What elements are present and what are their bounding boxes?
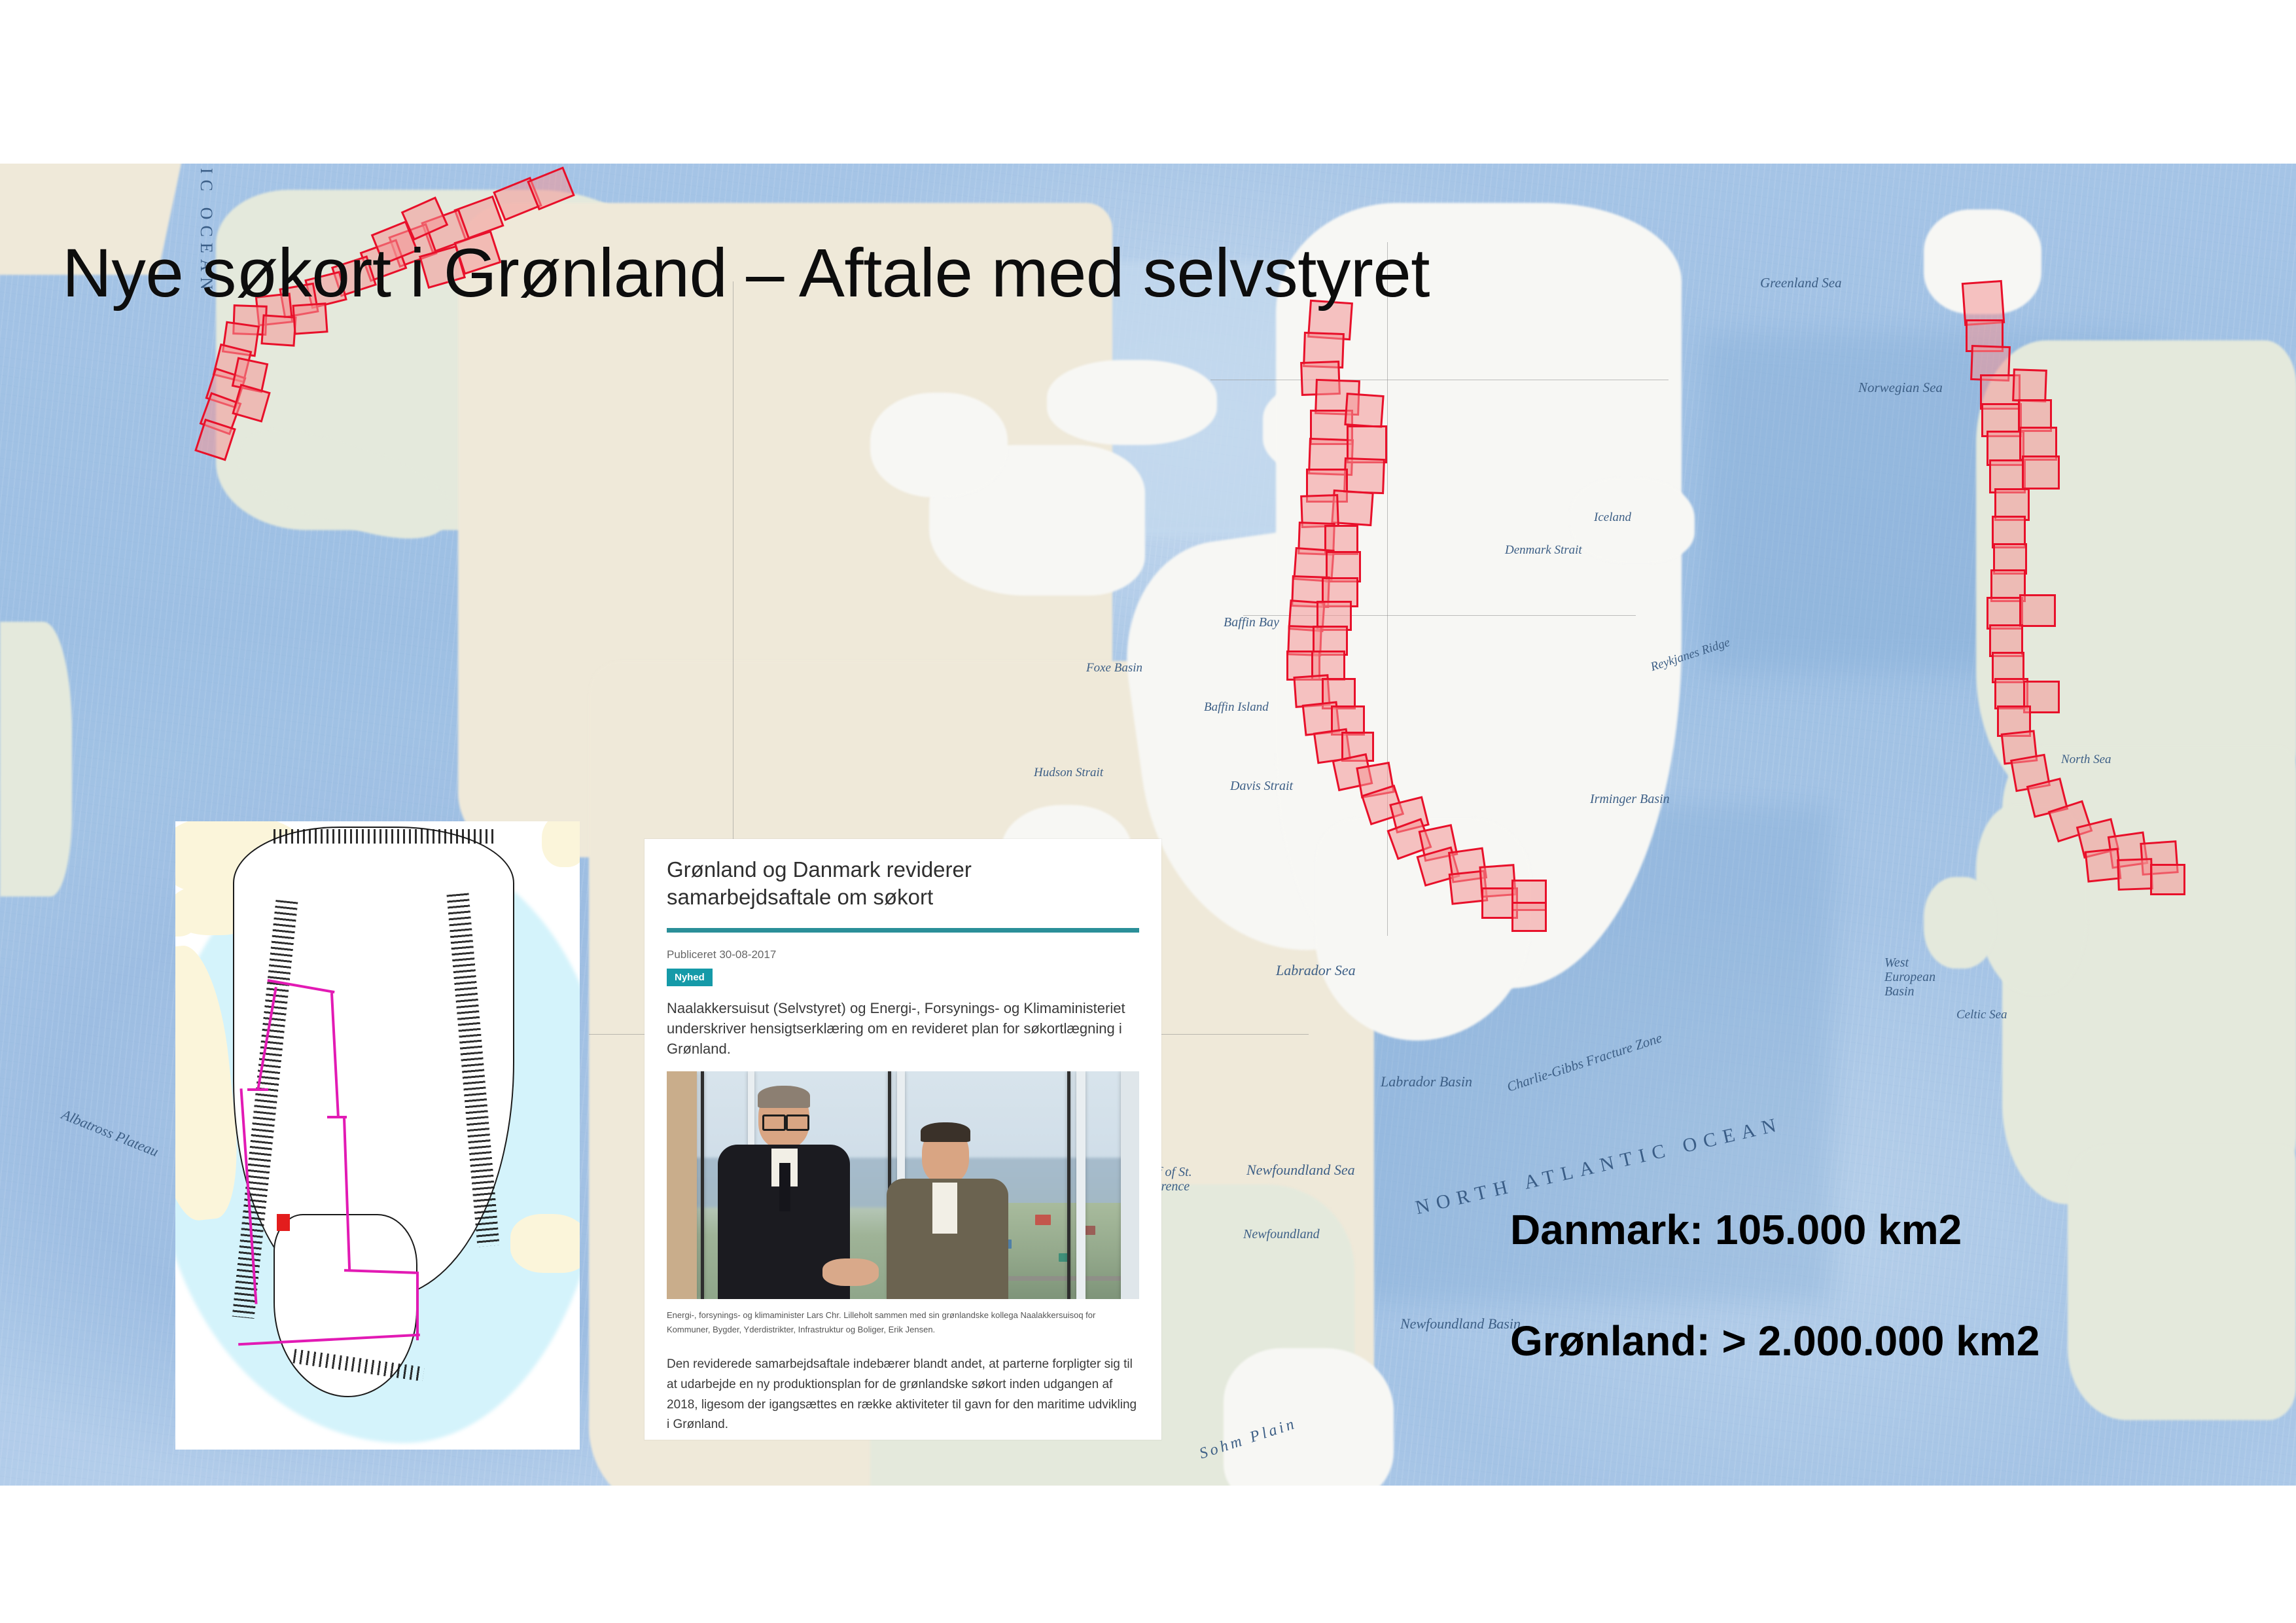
photo-person-hair — [758, 1086, 810, 1108]
photo-person-hair — [921, 1122, 970, 1142]
island-newfoundland — [1224, 1348, 1394, 1486]
survey-box — [260, 314, 296, 347]
survey-box — [1344, 393, 1384, 428]
news-article-card[interactable]: Grønland og Danmark reviderer samarbejds… — [645, 839, 1161, 1440]
photo-person-glasses — [762, 1115, 786, 1131]
article-title: Grønland og Danmark reviderer samarbejds… — [667, 856, 1139, 911]
island-iceland — [1570, 478, 1695, 563]
article-published-date: Publiceret 30-08-2017 — [667, 948, 1139, 961]
inset-coastline-north — [274, 829, 496, 844]
photo-window-mullion — [1067, 1071, 1070, 1299]
photo-caption: Energi-, forsynings- og klimaminister La… — [667, 1308, 1139, 1338]
denmark-area-callout: Danmark: 105.000 km2 — [1510, 1205, 1962, 1254]
photo-person-shirt — [932, 1183, 957, 1234]
island-banks — [870, 393, 1008, 497]
survey-box — [2022, 455, 2060, 490]
survey-box — [2117, 858, 2153, 891]
photo-handshake — [822, 1258, 879, 1286]
page-title: Nye søkort i Grønland – Aftale med selvs… — [62, 234, 1430, 313]
greenland-area-callout: Grønland: > 2.000.000 km2 — [1510, 1317, 2040, 1365]
photo-house — [1035, 1215, 1051, 1225]
inset-island-iceland — [510, 1214, 580, 1273]
landmass-iberia — [2068, 1145, 2296, 1420]
photo-window-mullion — [667, 1071, 697, 1299]
inset-island-svalbard — [542, 821, 580, 867]
survey-box — [1511, 902, 1547, 932]
survey-box — [2150, 864, 2185, 895]
survey-box — [2085, 847, 2122, 882]
article-photo — [667, 1071, 1139, 1299]
article-body-paragraph: Den reviderede samarbejdsaftale indebære… — [667, 1355, 1139, 1435]
status-badge: Nyhed — [667, 969, 713, 986]
survey-box — [1343, 457, 1385, 494]
admin-boundary — [1210, 380, 1669, 380]
survey-box — [2012, 368, 2047, 402]
photo-window-mullion — [1076, 1071, 1086, 1299]
inset-highlight-marker — [277, 1214, 290, 1231]
island-ireland — [1924, 877, 1996, 969]
survey-box — [2019, 594, 2056, 627]
island-melville — [1047, 360, 1217, 445]
inset-survey-polygon-right-edge — [416, 1272, 419, 1340]
photo-person-tie — [779, 1163, 790, 1211]
photo-person-glasses — [786, 1115, 809, 1131]
landmass-kamchatka — [0, 622, 72, 897]
inset-survey-polygon-notch-top — [247, 1088, 268, 1091]
title-accent-rule — [667, 928, 1139, 933]
photo-window-mullion — [701, 1071, 704, 1299]
photo-window-mullion — [1121, 1071, 1139, 1299]
article-lead-paragraph: Naalakkersuisut (Selvstyret) og Energi-,… — [667, 998, 1139, 1060]
greenland-inset-map[interactable] — [175, 821, 580, 1450]
slide-canvas: PACIFIC OCEAN NORTH ATLANTIC OCEAN Labra… — [0, 0, 2296, 1623]
